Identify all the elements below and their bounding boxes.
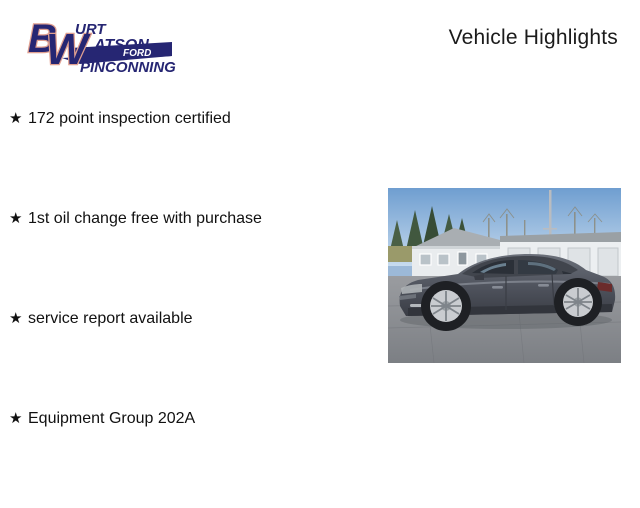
star-icon: ★ — [9, 108, 28, 130]
vehicle-photo-graphic — [388, 188, 621, 363]
list-item: ★ service report available — [0, 308, 380, 408]
star-icon: ★ — [9, 208, 28, 230]
page-title: Vehicle Highlights — [449, 26, 618, 50]
vehicle-highlights-list: ★ 172 point inspection certified ★ 1st o… — [0, 108, 380, 508]
list-item: ★ Equipment Group 202A — [0, 408, 380, 508]
logo-text-ford: FORD — [123, 48, 151, 59]
photo-front-wheel — [421, 281, 471, 331]
vehicle-photo — [388, 188, 621, 363]
dealer-logo: B W URT ATSON FORD PINCONNING — [22, 12, 182, 74]
list-item: ★ 1st oil change free with purchase — [0, 208, 380, 308]
star-icon: ★ — [9, 408, 28, 430]
logo-text-urt: URT — [75, 21, 107, 38]
logo-text-pinconning: PINCONNING — [80, 59, 176, 74]
star-icon: ★ — [9, 308, 28, 330]
highlight-text: Equipment Group 202A — [28, 408, 195, 430]
photo-rear-wheel — [554, 278, 602, 326]
highlight-text: service report available — [28, 308, 193, 330]
photo-pole-crossarm — [543, 228, 557, 230]
highlight-text: 172 point inspection certified — [28, 108, 231, 130]
list-item: ★ 172 point inspection certified — [0, 108, 380, 208]
highlight-text: 1st oil change free with purchase — [28, 208, 262, 230]
dealer-logo-graphic: B W URT ATSON FORD PINCONNING — [22, 12, 182, 74]
